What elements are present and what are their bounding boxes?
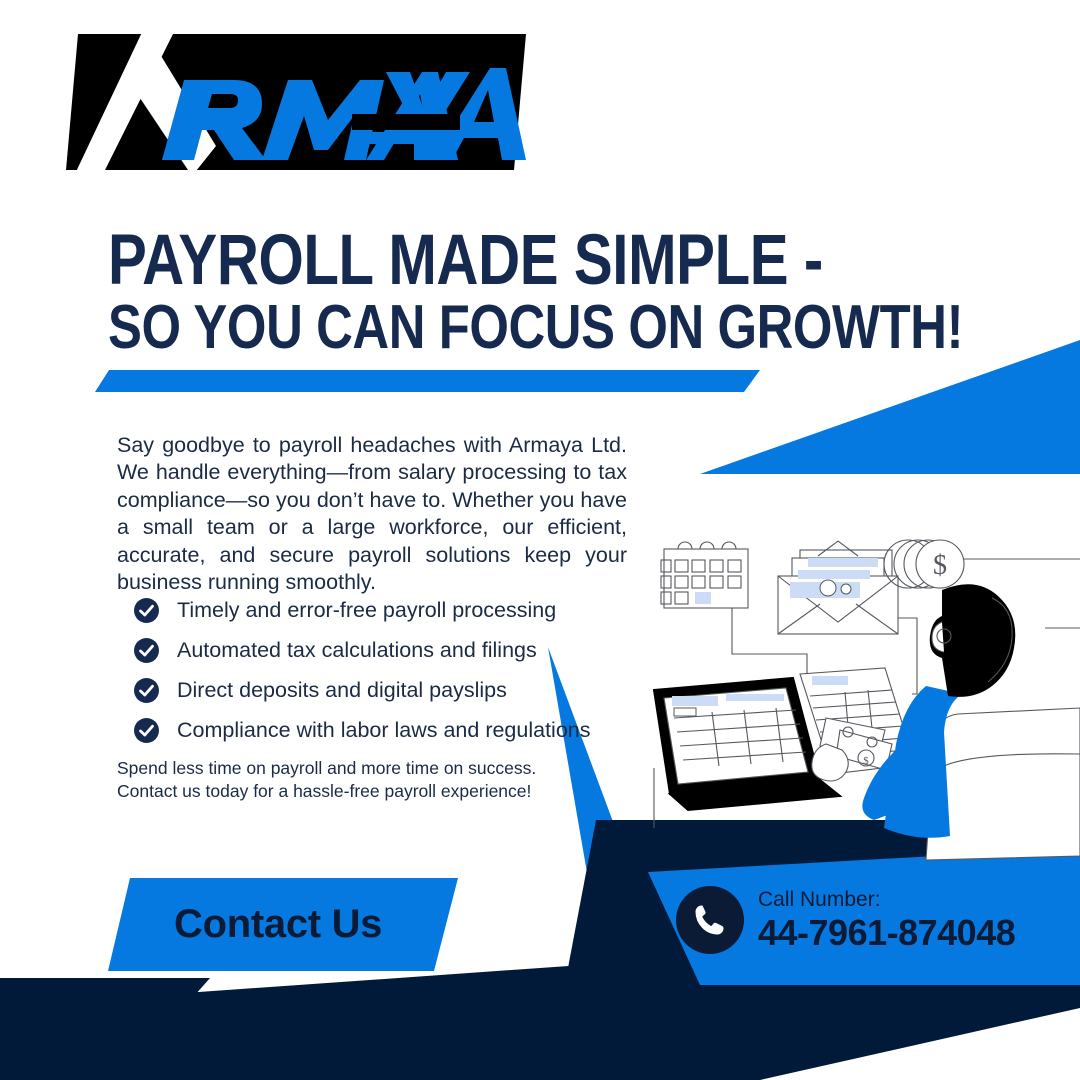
connector-line-envelope <box>897 618 917 694</box>
laptop-title-box <box>674 708 696 716</box>
contact-us-button-label: Contact Us <box>174 902 382 947</box>
closing-line-1: Spend less time on payroll and more time… <box>117 757 587 780</box>
headline-line-1: PAYROLL MADE SIMPLE - <box>108 228 682 293</box>
laptop-accent-2 <box>726 694 784 701</box>
armaya-logo-mark <box>66 28 526 176</box>
call-number-value[interactable]: 44-7961-874048 <box>758 915 1015 951</box>
list-item: Compliance with labor laws and regulatio… <box>134 710 604 750</box>
call-number-label: Call Number: <box>758 889 1015 910</box>
logo-bar-2 <box>362 132 458 144</box>
list-item: Timely and error-free payroll processing <box>134 590 604 630</box>
check-circle-icon <box>134 638 159 663</box>
svg-text:$: $ <box>863 755 869 767</box>
svg-text:$: $ <box>933 550 947 581</box>
closing-line-2: Contact us today for a hassle-free payro… <box>117 780 587 803</box>
footer-right-white-cut <box>760 1008 1080 1080</box>
list-item: Direct deposits and digital payslips <box>134 670 604 710</box>
phone-icon <box>676 886 744 954</box>
calendar-highlight <box>695 592 711 604</box>
logo-bar-1 <box>352 114 460 130</box>
contact-us-button[interactable]: Contact Us <box>108 878 458 971</box>
feature-label: Compliance with labor laws and regulatio… <box>177 718 591 743</box>
doc-avatar <box>820 580 836 596</box>
call-number-text: Call Number: 44-7961-874048 <box>758 889 1015 951</box>
payslip-accent <box>812 676 848 685</box>
headline-underline-bar <box>95 370 760 392</box>
office-chair <box>926 708 1080 860</box>
feature-list: Timely and error-free payroll processing… <box>134 590 604 750</box>
feature-label: Timely and error-free payroll processing <box>177 598 556 623</box>
list-item: Automated tax calculations and filings <box>134 630 604 670</box>
check-circle-icon <box>134 598 159 623</box>
check-circle-icon <box>134 718 159 743</box>
laptop-accent-1 <box>672 696 718 706</box>
armaya-logo[interactable] <box>66 28 526 176</box>
doc-accent-1 <box>808 558 878 567</box>
poster-canvas: PAYROLL MADE SIMPLE - SO YOU CAN FOCUS O… <box>0 0 1080 1080</box>
navy-footer-left-cut <box>0 978 210 1080</box>
headline-line-2: SO YOU CAN FOCUS ON GROWTH! <box>108 299 682 356</box>
feature-label: Direct deposits and digital payslips <box>177 678 507 703</box>
payroll-accountant-illustration: $ <box>640 518 1080 863</box>
closing-copy: Spend less time on payroll and more time… <box>117 757 587 803</box>
body-paragraph: Say goodbye to payroll headaches with Ar… <box>117 432 627 597</box>
doc-dot <box>841 584 851 594</box>
check-circle-icon <box>134 678 159 703</box>
feature-label: Automated tax calculations and filings <box>177 638 537 663</box>
doc-accent-2 <box>798 570 870 579</box>
headline: PAYROLL MADE SIMPLE - SO YOU CAN FOCUS O… <box>108 228 808 356</box>
call-number-block[interactable]: Call Number: 44-7961-874048 <box>676 886 1015 954</box>
